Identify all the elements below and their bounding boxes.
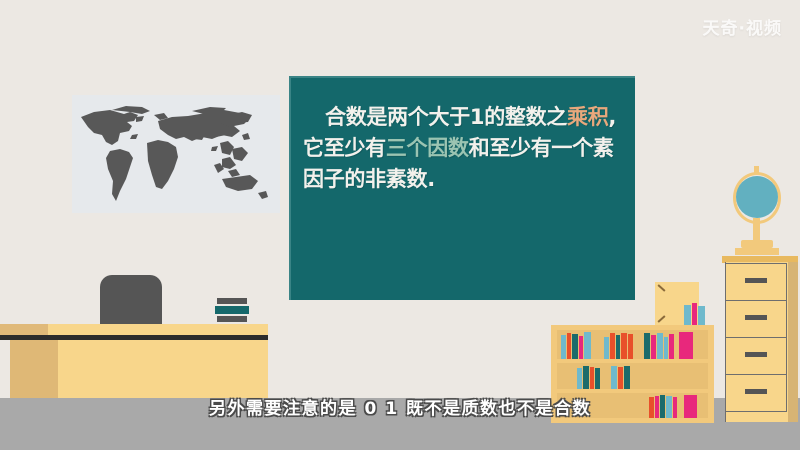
shelf-books-middle <box>577 363 708 389</box>
shelf-book <box>572 334 578 359</box>
shelf-book <box>628 334 633 359</box>
shelf-book <box>669 334 674 359</box>
globe-base-lower <box>735 248 779 255</box>
world-map-poster <box>72 95 280 213</box>
classroom-scene: 合数是两个大于1的整数之乘积,它至少有三个因数和至少有一个素因子的非素数. 天奇… <box>0 0 800 450</box>
shelf-book <box>618 367 623 389</box>
cabinet-drawer[interactable] <box>725 300 787 338</box>
desk-top <box>48 324 268 335</box>
blackboard: 合数是两个大于1的整数之乘积,它至少有三个因数和至少有一个素因子的非素数. <box>289 76 635 300</box>
shelf-book <box>651 335 656 359</box>
shelf-book <box>584 332 591 359</box>
blackboard-text: 合数是两个大于1的整数之乘积,它至少有三个因数和至少有一个素因子的非素数. <box>303 102 625 195</box>
board-line2-highlight-b: 三个因数 <box>386 136 469 160</box>
globe-base-upper <box>741 240 773 248</box>
drawer-handle[interactable] <box>745 352 767 357</box>
shelf-books-top <box>561 330 708 359</box>
shelf-book <box>579 336 583 359</box>
board-line1-plain: 合数是两个大于1的整数之 <box>325 105 567 129</box>
shelf-book <box>577 368 582 389</box>
drawer-handle[interactable] <box>745 315 767 320</box>
shelf-book <box>644 333 650 359</box>
desk-side-panel <box>10 340 58 398</box>
shelf-book <box>679 332 693 359</box>
note-books-group <box>684 303 710 327</box>
shelf-book <box>590 367 594 389</box>
board-line1-highlight: 乘 <box>567 105 588 129</box>
cabinet-drawer[interactable] <box>725 337 787 375</box>
shelf-book <box>621 333 627 359</box>
globe-sphere <box>736 176 778 218</box>
teacher-chair <box>100 275 162 327</box>
desk-book-stack <box>212 298 252 324</box>
shelf-book <box>611 366 617 389</box>
drawer-handle[interactable] <box>745 278 767 283</box>
shelf-book <box>567 333 571 359</box>
globe-stem <box>753 218 760 240</box>
shelf-book <box>595 368 600 389</box>
board-line2-highlight-cont: 积 <box>588 105 609 129</box>
note-book <box>692 303 697 327</box>
shelf-book <box>664 337 668 359</box>
shelf-book <box>616 335 620 359</box>
shelf-book <box>583 366 589 389</box>
shelf-book <box>657 333 663 359</box>
shelf-book <box>610 333 615 359</box>
desk-book <box>217 298 247 304</box>
board-line2-plain-b: 和至少有一 <box>469 136 573 160</box>
shelf-book <box>624 366 630 389</box>
globe-knob <box>754 166 759 173</box>
desk-book <box>215 306 249 314</box>
subtitle-caption: 另外需要注意的是 0 1 既不是质数也不是合数 <box>0 398 800 420</box>
watermark: 天奇·视频 <box>703 14 782 39</box>
desk-book <box>217 316 247 322</box>
shelf-book <box>561 335 566 359</box>
drawer-handle[interactable] <box>745 389 767 394</box>
shelf-book <box>604 337 609 359</box>
cabinet-drawer[interactable] <box>725 263 787 301</box>
note-book <box>684 305 691 327</box>
note-book <box>698 306 705 327</box>
